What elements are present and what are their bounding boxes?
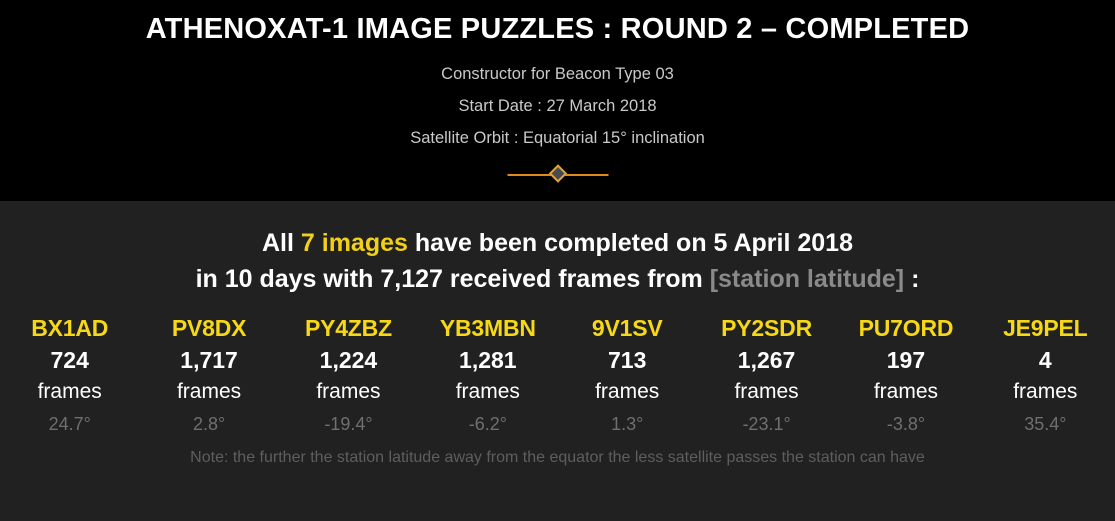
station-frames-label: frames bbox=[141, 377, 276, 407]
station-column: YB3MBN 1,281 frames -6.2° bbox=[418, 313, 557, 441]
station-latitude: 24.7° bbox=[2, 407, 137, 441]
header-subtitle-start-date: Start Date : 27 March 2018 bbox=[0, 96, 1115, 116]
summary-line-2: in 10 days with 7,127 received frames fr… bbox=[0, 261, 1115, 297]
summary-line2-prefix: in 10 days with 7,127 received frames fr… bbox=[196, 265, 710, 293]
station-frames-label: frames bbox=[560, 377, 695, 407]
station-column: PV8DX 1,717 frames 2.8° bbox=[139, 313, 278, 441]
station-column: PY4ZBZ 1,224 frames -19.4° bbox=[279, 313, 418, 441]
summary-line-1: All 7 images have been completed on 5 Ap… bbox=[0, 225, 1115, 261]
station-frames: 197 bbox=[838, 343, 973, 377]
summary-image-count: 7 images bbox=[301, 229, 408, 257]
summary-line1-suffix: have been completed on 5 April 2018 bbox=[408, 229, 853, 257]
station-callsign: PV8DX bbox=[141, 313, 276, 343]
header-subtitle-constructor: Constructor for Beacon Type 03 bbox=[0, 64, 1115, 84]
station-frames-label: frames bbox=[420, 377, 555, 407]
station-latitude: 35.4° bbox=[978, 407, 1113, 441]
header-band: ATHENOXAT-1 IMAGE PUZZLES : ROUND 2 – CO… bbox=[0, 0, 1115, 201]
station-frames: 724 bbox=[2, 343, 137, 377]
stations-grid: BX1AD 724 frames 24.7° PV8DX 1,717 frame… bbox=[0, 313, 1115, 441]
station-frames: 4 bbox=[978, 343, 1113, 377]
station-frames: 1,267 bbox=[699, 343, 834, 377]
station-column: PU7ORD 197 frames -3.8° bbox=[836, 313, 975, 441]
station-column: 9V1SV 713 frames 1.3° bbox=[558, 313, 697, 441]
station-frames: 713 bbox=[560, 343, 695, 377]
main-content: All 7 images have been completed on 5 Ap… bbox=[0, 201, 1115, 521]
station-callsign: 9V1SV bbox=[560, 313, 695, 343]
station-frames: 1,281 bbox=[420, 343, 555, 377]
station-frames: 1,717 bbox=[141, 343, 276, 377]
station-latitude: -6.2° bbox=[420, 407, 555, 441]
station-column: PY2SDR 1,267 frames -23.1° bbox=[697, 313, 836, 441]
header-subtitle-satellite-orbit: Satellite Orbit : Equatorial 15° inclina… bbox=[0, 128, 1115, 148]
station-frames: 1,224 bbox=[281, 343, 416, 377]
station-frames-label: frames bbox=[2, 377, 137, 407]
station-column: BX1AD 724 frames 24.7° bbox=[0, 313, 139, 441]
station-latitude: 1.3° bbox=[560, 407, 695, 441]
station-latitude: 2.8° bbox=[141, 407, 276, 441]
station-frames-label: frames bbox=[699, 377, 834, 407]
station-latitude: -19.4° bbox=[281, 407, 416, 441]
station-frames-label: frames bbox=[838, 377, 973, 407]
station-frames-label: frames bbox=[978, 377, 1113, 407]
ornamental-divider bbox=[0, 165, 1115, 185]
summary-station-latitude-placeholder: [station latitude] bbox=[710, 265, 904, 293]
station-latitude: -23.1° bbox=[699, 407, 834, 441]
station-callsign: PY2SDR bbox=[699, 313, 834, 343]
footer-note: Note: the further the station latitude a… bbox=[0, 447, 1115, 469]
station-callsign: YB3MBN bbox=[420, 313, 555, 343]
summary-line2-suffix: : bbox=[904, 265, 919, 293]
summary-line1-prefix: All bbox=[262, 229, 301, 257]
station-column: JE9PEL 4 frames 35.4° bbox=[976, 313, 1115, 441]
page-root: ATHENOXAT-1 IMAGE PUZZLES : ROUND 2 – CO… bbox=[0, 0, 1115, 521]
diamond-icon bbox=[548, 164, 566, 182]
page-title: ATHENOXAT-1 IMAGE PUZZLES : ROUND 2 – CO… bbox=[0, 12, 1115, 46]
station-callsign: PY4ZBZ bbox=[281, 313, 416, 343]
station-callsign: BX1AD bbox=[2, 313, 137, 343]
station-frames-label: frames bbox=[281, 377, 416, 407]
station-callsign: JE9PEL bbox=[978, 313, 1113, 343]
station-callsign: PU7ORD bbox=[838, 313, 973, 343]
station-latitude: -3.8° bbox=[838, 407, 973, 441]
summary-text: All 7 images have been completed on 5 Ap… bbox=[0, 225, 1115, 297]
